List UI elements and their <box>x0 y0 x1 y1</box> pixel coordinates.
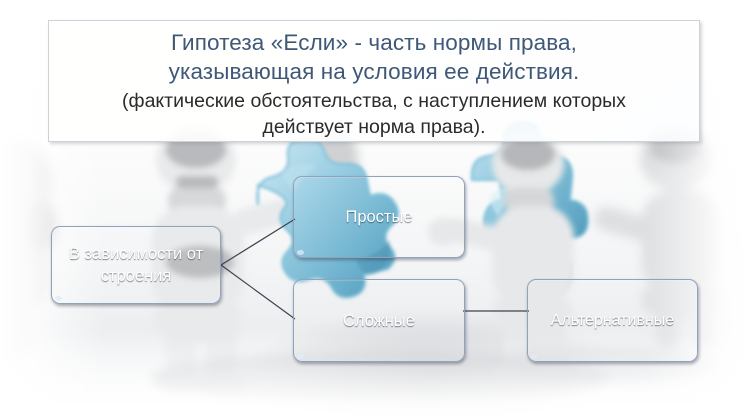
title-line-1: Гипотеза «Если» - часть нормы права, <box>49 21 699 57</box>
diagram-node-alternative-label: Альтернативные <box>551 310 674 332</box>
diagram-node-alternative[interactable]: Альтернативные <box>527 279 698 362</box>
diagram-node-simple[interactable]: Простые <box>293 176 465 258</box>
diagram-node-dependency[interactable]: В зависимости от строения <box>51 226 221 304</box>
title-line-2: указывающая на условия ее действия. <box>49 57 699 86</box>
title-line-3: (фактические обстоятельства, с наступлен… <box>49 86 699 114</box>
title-line-4: действует норма права). <box>49 114 699 140</box>
diagram-node-simple-label: Простые <box>345 206 412 228</box>
diagram-node-dependency-label: В зависимости от строения <box>52 243 220 287</box>
diagram-node-complex-label: Сложные <box>343 310 415 332</box>
diagram-node-complex[interactable]: Сложные <box>293 279 465 362</box>
slide-canvas: Гипотеза «Если» - часть нормы права, ука… <box>0 0 750 420</box>
title-panel: Гипотеза «Если» - часть нормы права, ука… <box>48 20 700 142</box>
